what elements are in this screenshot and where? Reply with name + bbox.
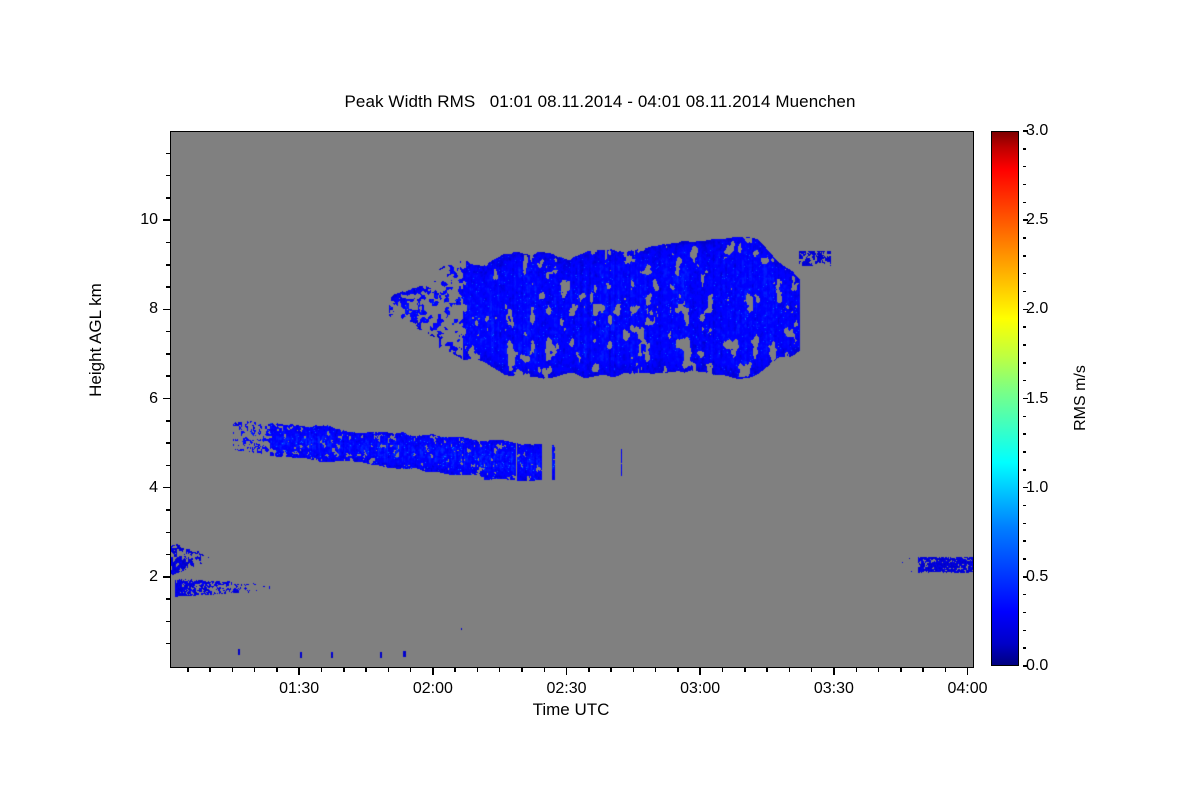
x-axis-minor-tick	[454, 668, 456, 672]
colorbar-gradient	[991, 131, 1019, 666]
colorbar-title: RMS m/s	[1072, 365, 1090, 431]
x-axis-minor-tick	[789, 668, 791, 672]
colorbar-minor-tick	[1023, 362, 1026, 364]
x-axis-minor-tick	[922, 668, 924, 672]
colorbar-minor-tick	[1023, 558, 1026, 560]
x-axis-minor-tick	[744, 668, 746, 672]
x-axis-minor-tick	[677, 668, 679, 672]
x-axis-tick	[566, 668, 568, 675]
y-axis-tick-label: 2	[118, 569, 158, 585]
x-axis-minor-tick	[945, 668, 947, 672]
colorbar-tick-label: 1.0	[1026, 480, 1048, 496]
y-axis-tick-label: 10	[118, 212, 158, 228]
y-axis-tick-label: 8	[118, 301, 158, 317]
x-axis-minor-tick	[321, 668, 323, 672]
colorbar-tick-label: 2.0	[1026, 301, 1048, 317]
y-axis-minor-tick	[166, 264, 170, 266]
y-axis-tick	[163, 309, 170, 311]
colorbar-minor-tick	[1023, 647, 1026, 649]
x-axis-minor-tick	[544, 668, 546, 672]
x-axis-minor-tick	[499, 668, 501, 672]
x-axis-minor-tick	[722, 668, 724, 672]
y-axis-minor-tick	[166, 598, 170, 600]
y-axis-minor-tick	[166, 420, 170, 422]
y-axis-minor-tick	[166, 242, 170, 244]
colorbar-minor-tick	[1023, 291, 1026, 293]
y-axis-minor-tick	[166, 532, 170, 534]
x-axis-minor-tick	[365, 668, 367, 672]
colorbar-minor-tick	[1023, 505, 1026, 507]
colorbar-minor-tick	[1023, 273, 1026, 275]
y-axis-tick-label: 4	[118, 480, 158, 496]
x-axis-tick-label: 02:30	[522, 681, 612, 697]
y-axis-minor-tick	[166, 643, 170, 645]
colorbar-minor-tick	[1023, 487, 1026, 489]
x-axis-minor-tick	[588, 668, 590, 672]
y-axis-minor-tick	[166, 554, 170, 556]
x-axis-minor-tick	[878, 668, 880, 672]
colorbar-tick-label: 2.5	[1026, 212, 1048, 228]
colorbar-minor-tick	[1023, 166, 1026, 168]
x-axis-tick	[432, 668, 434, 675]
colorbar-minor-tick	[1023, 523, 1026, 525]
x-axis-minor-tick	[811, 668, 813, 672]
colorbar-tick-label: 0.0	[1026, 658, 1048, 674]
y-axis-minor-tick	[166, 442, 170, 444]
colorbar-minor-tick	[1023, 630, 1026, 632]
y-axis-minor-tick	[166, 353, 170, 355]
figure-canvas: Peak Width RMS 01:01 08.11.2014 - 04:01 …	[0, 0, 1200, 800]
colorbar-minor-tick	[1023, 594, 1026, 596]
colorbar-minor-tick	[1023, 148, 1026, 150]
x-axis-tick	[833, 668, 835, 675]
x-axis-tick-label: 01:30	[254, 681, 344, 697]
x-axis-minor-tick	[232, 668, 234, 672]
colorbar-minor-tick	[1023, 344, 1026, 346]
y-axis-title: Height AGL km	[86, 283, 106, 397]
x-axis-tick	[967, 668, 969, 675]
colorbar-tick-label: 1.5	[1026, 391, 1048, 407]
colorbar-minor-tick	[1023, 202, 1026, 204]
colorbar-minor-tick	[1023, 237, 1026, 239]
colorbar-minor-tick	[1023, 416, 1026, 418]
colorbar-minor-tick	[1023, 612, 1026, 614]
colorbar-minor-tick	[1023, 433, 1026, 435]
y-axis-tick	[163, 398, 170, 400]
heatmap-data-layer	[171, 132, 973, 667]
x-axis-minor-tick	[343, 668, 345, 672]
y-axis-minor-tick	[166, 375, 170, 377]
y-axis-minor-tick	[166, 331, 170, 333]
y-axis-minor-tick	[166, 175, 170, 177]
y-axis-minor-tick	[166, 197, 170, 199]
x-axis-minor-tick	[209, 668, 211, 672]
x-axis-minor-tick	[187, 668, 189, 672]
x-axis-title: Time UTC	[170, 700, 972, 720]
x-axis-minor-tick	[521, 668, 523, 672]
y-axis-tick	[163, 219, 170, 221]
x-axis-minor-tick	[410, 668, 412, 672]
colorbar-tick-label: 3.0	[1026, 123, 1048, 139]
x-axis-minor-tick	[900, 668, 902, 672]
colorbar-minor-tick	[1023, 326, 1026, 328]
y-axis-tick	[163, 487, 170, 489]
colorbar-minor-tick	[1023, 469, 1026, 471]
x-axis-minor-tick	[856, 668, 858, 672]
x-axis-minor-tick	[766, 668, 768, 672]
colorbar-minor-tick	[1023, 380, 1026, 382]
colorbar-tick-label: 0.5	[1026, 569, 1048, 585]
y-axis-minor-tick	[166, 621, 170, 623]
x-axis-minor-tick	[254, 668, 256, 672]
x-axis-minor-tick	[276, 668, 278, 672]
y-axis-minor-tick	[166, 509, 170, 511]
x-axis-minor-tick	[388, 668, 390, 672]
colorbar-minor-tick	[1023, 540, 1026, 542]
x-axis-minor-tick	[655, 668, 657, 672]
x-axis-minor-tick	[633, 668, 635, 672]
x-axis-tick-label: 04:00	[923, 681, 1013, 697]
colorbar-minor-tick	[1023, 184, 1026, 186]
x-axis-minor-tick	[477, 668, 479, 672]
x-axis-tick-label: 02:00	[388, 681, 478, 697]
x-axis-tick	[699, 668, 701, 675]
plot-area[interactable]	[170, 131, 974, 668]
y-axis-minor-tick	[166, 286, 170, 288]
x-axis-tick-label: 03:00	[655, 681, 745, 697]
colorbar-minor-tick	[1023, 451, 1026, 453]
colorbar[interactable]	[991, 131, 1019, 666]
y-axis-tick-label: 6	[118, 391, 158, 407]
x-axis-minor-tick	[610, 668, 612, 672]
chart-title: Peak Width RMS 01:01 08.11.2014 - 04:01 …	[0, 92, 1200, 112]
y-axis-minor-tick	[166, 465, 170, 467]
y-axis-tick	[163, 576, 170, 578]
colorbar-minor-tick	[1023, 255, 1026, 257]
y-axis-minor-tick	[166, 153, 170, 155]
x-axis-tick	[298, 668, 300, 675]
x-axis-tick-label: 03:30	[789, 681, 879, 697]
